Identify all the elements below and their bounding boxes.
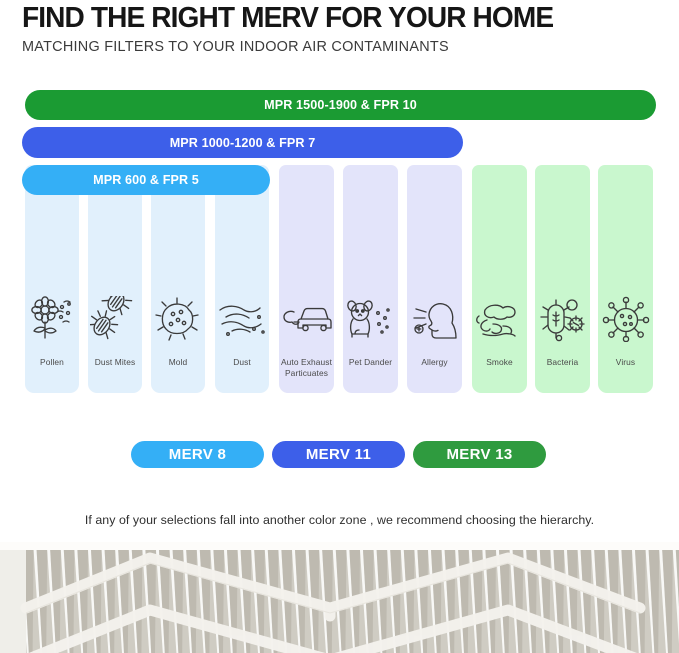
mpr-bar-label: MPR 1000-1200 & FPR 7: [170, 136, 316, 150]
contaminant-label: Pet Dander: [344, 357, 397, 368]
air-filter-photo: [0, 536, 679, 653]
dust-mite-icon: [88, 293, 142, 345]
contaminant-column-pollen: Pollen: [25, 165, 79, 393]
merv-pill-8: MERV 8: [131, 441, 264, 468]
contaminant-column-bacteria: Bacteria: [535, 165, 590, 393]
contaminant-label: Smoke: [473, 357, 526, 368]
sneeze-head-icon: [407, 293, 462, 345]
merv-pill-13: MERV 13: [413, 441, 546, 468]
mold-spore-icon: [151, 293, 205, 345]
mpr-bar-label: MPR 600 & FPR 5: [93, 173, 199, 187]
merv-pill-label: MERV 11: [306, 446, 371, 463]
contaminant-column-smoke: Smoke: [472, 165, 527, 393]
contaminant-label: Bacteria: [536, 357, 589, 368]
car-exhaust-icon: [279, 293, 334, 345]
contaminant-label: Dust: [216, 357, 268, 368]
contaminant-label: Mold: [152, 357, 204, 368]
contaminant-label: Auto ExhaustParticuates: [280, 357, 333, 378]
dust-swirl-icon: [215, 293, 269, 345]
contaminant-label: Virus: [599, 357, 652, 368]
mpr-bar-label: MPR 1500-1900 & FPR 10: [264, 98, 417, 112]
merv-pill-label: MERV 13: [446, 446, 512, 463]
infographic-page: FIND THE RIGHT MERV FOR YOUR HOME MATCHI…: [0, 0, 679, 653]
mpr-bar-1500-1900: MPR 1500-1900 & FPR 10: [25, 90, 656, 120]
contaminant-label: Pollen: [26, 357, 78, 368]
bacteria-icon: [535, 293, 590, 345]
merv-legend: MERV 8 MERV 11 MERV 13: [0, 441, 679, 469]
mpr-bar-600: MPR 600 & FPR 5: [22, 165, 270, 195]
smoke-icon: [472, 293, 527, 345]
flower-pollen-icon: [25, 293, 79, 345]
pet-dander-icon: [343, 293, 398, 345]
contaminant-column-dust: Dust: [215, 165, 269, 393]
contaminant-column-pet-dander: Pet Dander: [343, 165, 398, 393]
merv-chart: Pollen Dust Mites Mold Dust: [0, 0, 679, 500]
contaminant-label: Allergy: [408, 357, 461, 368]
hierarchy-note: If any of your selections fall into anot…: [0, 513, 679, 527]
contaminant-column-auto-exhaust: Auto ExhaustParticuates: [279, 165, 334, 393]
contaminant-label: Dust Mites: [89, 357, 141, 368]
virus-icon: [598, 293, 653, 345]
merv-pill-11: MERV 11: [272, 441, 405, 468]
merv-pill-label: MERV 8: [169, 446, 226, 463]
contaminant-column-allergy: Allergy: [407, 165, 462, 393]
contaminant-column-virus: Virus: [598, 165, 653, 393]
mpr-bar-1000-1200: MPR 1000-1200 & FPR 7: [22, 127, 463, 158]
contaminant-column-dust-mites: Dust Mites: [88, 165, 142, 393]
contaminant-column-mold: Mold: [151, 165, 205, 393]
